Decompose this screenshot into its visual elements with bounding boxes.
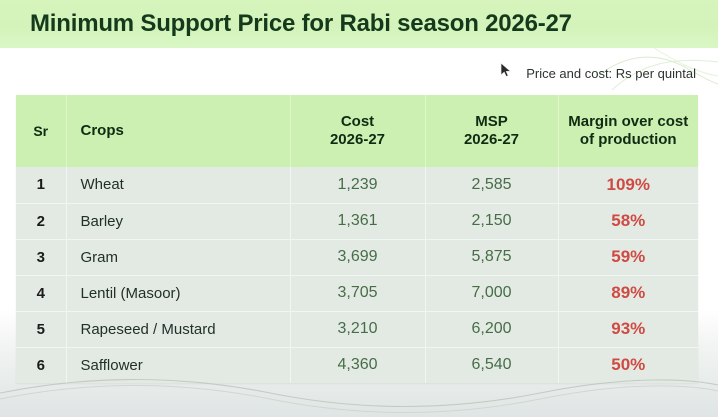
cell-cost: 3,210 (290, 311, 425, 347)
col-header-crops: Crops (66, 95, 290, 167)
cell-sr: 1 (16, 167, 66, 203)
cell-margin: 93% (558, 311, 698, 347)
cell-sr: 4 (16, 275, 66, 311)
table-row: 1 Wheat 1,239 2,585 109% (16, 167, 698, 203)
mouse-cursor-icon (500, 62, 512, 78)
table-header-row: Sr Crops Cost 2026-27 MSP 2026-27 Margin… (16, 95, 698, 167)
cell-msp: 2,585 (425, 167, 558, 203)
cell-margin: 50% (558, 347, 698, 383)
cell-margin: 89% (558, 275, 698, 311)
slide-canvas: Minimum Support Price for Rabi season 20… (0, 0, 718, 417)
cell-cost: 1,361 (290, 203, 425, 239)
cell-crop: Rapeseed / Mustard (66, 311, 290, 347)
cell-msp: 2,150 (425, 203, 558, 239)
col-header-msp-line2: 2026-27 (432, 131, 552, 149)
cell-margin: 58% (558, 203, 698, 239)
cell-cost: 3,699 (290, 239, 425, 275)
cell-margin: 59% (558, 239, 698, 275)
cell-crop: Safflower (66, 347, 290, 383)
table-header: Sr Crops Cost 2026-27 MSP 2026-27 Margin… (16, 95, 698, 167)
cell-sr: 6 (16, 347, 66, 383)
table-row: 3 Gram 3,699 5,875 59% (16, 239, 698, 275)
units-note: Price and cost: Rs per quintal (526, 66, 696, 81)
cell-msp: 7,000 (425, 275, 558, 311)
table-row: 2 Barley 1,361 2,150 58% (16, 203, 698, 239)
cell-cost: 1,239 (290, 167, 425, 203)
col-header-margin: Margin over cost of production (558, 95, 698, 167)
cell-msp: 5,875 (425, 239, 558, 275)
col-header-msp-line1: MSP (432, 113, 552, 131)
cell-sr: 3 (16, 239, 66, 275)
cell-crop: Lentil (Masoor) (66, 275, 290, 311)
title-banner: Minimum Support Price for Rabi season 20… (0, 0, 718, 48)
col-header-cost-line2: 2026-27 (297, 131, 419, 149)
cell-cost: 4,360 (290, 347, 425, 383)
cell-crop: Barley (66, 203, 290, 239)
cell-msp: 6,200 (425, 311, 558, 347)
cell-cost: 3,705 (290, 275, 425, 311)
col-header-sr: Sr (16, 95, 66, 167)
msp-table-container: Sr Crops Cost 2026-27 MSP 2026-27 Margin… (16, 95, 698, 383)
cell-crop: Gram (66, 239, 290, 275)
page-title: Minimum Support Price for Rabi season 20… (30, 10, 572, 38)
table-row: 6 Safflower 4,360 6,540 50% (16, 347, 698, 383)
col-header-msp: MSP 2026-27 (425, 95, 558, 167)
table-row: 4 Lentil (Masoor) 3,705 7,000 89% (16, 275, 698, 311)
cell-margin: 109% (558, 167, 698, 203)
cell-sr: 5 (16, 311, 66, 347)
col-header-cost-line1: Cost (297, 113, 419, 131)
cell-sr: 2 (16, 203, 66, 239)
msp-table: Sr Crops Cost 2026-27 MSP 2026-27 Margin… (16, 95, 698, 383)
cell-crop: Wheat (66, 167, 290, 203)
col-header-cost: Cost 2026-27 (290, 95, 425, 167)
cell-msp: 6,540 (425, 347, 558, 383)
table-body: 1 Wheat 1,239 2,585 109% 2 Barley 1,361 … (16, 167, 698, 383)
table-row: 5 Rapeseed / Mustard 3,210 6,200 93% (16, 311, 698, 347)
